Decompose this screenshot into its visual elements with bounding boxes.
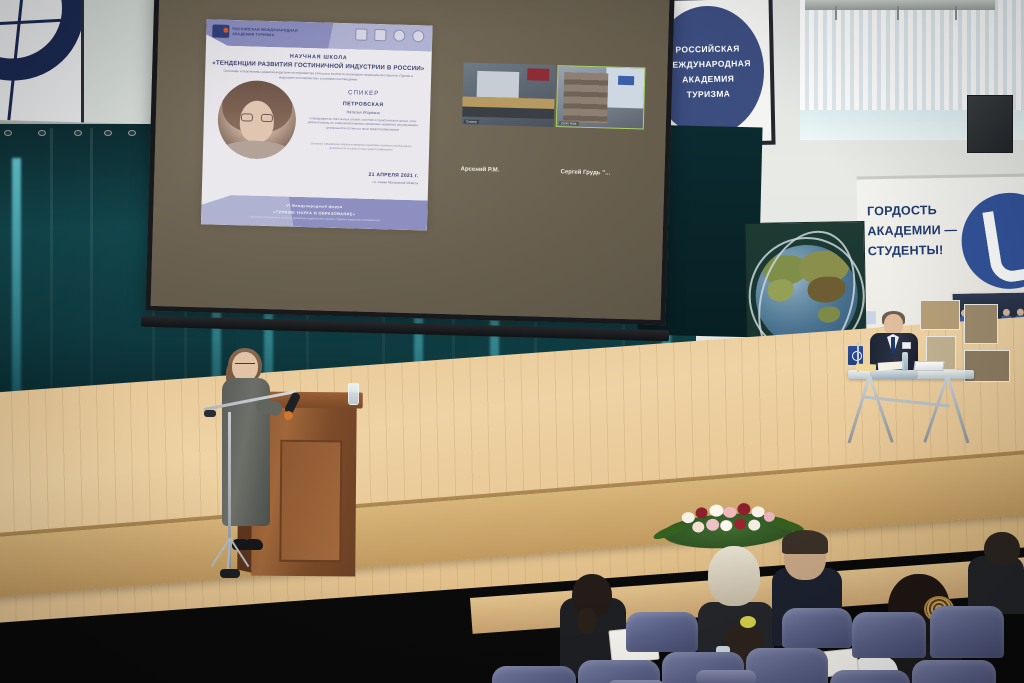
- participant-name-2: Сергей Грудь ˮ...: [560, 169, 610, 176]
- slide-speaker-block: СПИКЕР ПЕТРОВСКАЯ Наталья Игоревна сопре…: [304, 88, 423, 132]
- attendee-blonde-head: [708, 546, 760, 606]
- attendee-masked-girl-tie: [740, 616, 756, 628]
- slide-date-block: 21 АПРЕЛЯ 2021 г. г.о. Химки Московской …: [368, 172, 418, 185]
- presidium-table-area: [842, 312, 1002, 452]
- partner-logos: [355, 28, 424, 42]
- seat[interactable]: [782, 608, 852, 648]
- attendee-far-right-head: [984, 532, 1020, 566]
- microphone-clip: [204, 410, 216, 417]
- speaker-label: СПИКЕР: [305, 88, 423, 98]
- water-bottle: [902, 352, 908, 371]
- seat[interactable]: [930, 606, 1004, 658]
- seat[interactable]: [830, 670, 910, 683]
- tripod-foot: [220, 569, 240, 578]
- video-participant-names: Арсений Р.М. Сергей Грудь ˮ...: [461, 166, 661, 172]
- academy-logo: РОССИЙСКАЯ МЕЖДУНАРОДНАЯ АКАДЕМИЯ ТУРИЗМ…: [212, 24, 298, 39]
- table-papers-yellow: [856, 363, 876, 371]
- video-tile-speaker: Спикер: [462, 62, 556, 127]
- video-tile-1-caption: Спикер: [464, 119, 479, 123]
- slide-location: г.о. Химки Московской области: [368, 180, 418, 185]
- table-leg: [946, 376, 969, 444]
- man-name-badge: [902, 342, 911, 349]
- video-tile-2-caption: Zoom Host: [559, 121, 579, 126]
- slide-footer: VI Международный форум «ТУРИЗМ: НАУКА И …: [201, 194, 428, 230]
- seat[interactable]: [492, 666, 576, 683]
- table-leg: [848, 376, 871, 444]
- seat[interactable]: [912, 660, 996, 683]
- seat[interactable]: [852, 612, 926, 658]
- speaker-name: Наталья Игоревна: [304, 108, 422, 116]
- partner-logo-3-icon: [393, 29, 405, 41]
- partner-logo-2-icon: [374, 29, 386, 41]
- attendee-man-suit-hair: [782, 530, 828, 554]
- ceiling-rail: [805, 0, 995, 10]
- audience-seating: [500, 520, 1024, 683]
- partner-logo-4-icon: [412, 30, 424, 42]
- academy-line-3: АКАДЕМИЯ: [682, 73, 734, 84]
- speaker-portrait: [217, 80, 297, 160]
- academy-mark-icon: [212, 24, 229, 37]
- seat[interactable]: [626, 612, 698, 652]
- screen-surface: РОССИЙСКАЯ МЕЖДУНАРОДНАЯ АКАДЕМИЯ ТУРИЗМ…: [151, 0, 670, 320]
- participant-name-1: Арсений Р.М.: [460, 166, 499, 173]
- projection-screen: РОССИЙСКАЯ МЕЖДУНАРОДНАЯ АКАДЕМИЯ ТУРИЗМ…: [145, 0, 674, 325]
- conference-hall-scene: РОССИЙСКАЯ МЕЖДУНАРОДНАЯ АКАДЕМИЯ ТУРИЗМ…: [0, 0, 1024, 683]
- attendee-dark-ponytail-ponytail: [578, 608, 596, 634]
- presenter-glasses-icon: [235, 363, 255, 368]
- microphone-boom: [204, 390, 297, 411]
- presentation-slide: РОССИЙСКАЯ МЕЖДУНАРОДНАЯ АКАДЕМИЯ ТУРИЗМ…: [201, 19, 433, 230]
- academy-line-1: РОССИЙСКАЯ: [675, 43, 739, 54]
- speaker-description: сопредседатель Лиги малых отелей, хостел…: [304, 116, 422, 133]
- left-globe-banner: [0, 0, 84, 124]
- academy-line-4: ТУРИЗМА: [687, 88, 731, 99]
- slide-date: 21 АПРЕЛЯ 2021 г.: [368, 172, 418, 179]
- microphone-windscreen: [284, 411, 293, 420]
- slide-note: Основные направления совершенствования н…: [303, 142, 419, 153]
- seat-armrest: [696, 670, 756, 683]
- partner-logo-1-icon: [355, 28, 367, 40]
- academy-line-2: МЕЖДУНАРОДНАЯ: [665, 58, 751, 70]
- microphone-stand: [196, 378, 316, 578]
- man-tie: [891, 337, 895, 353]
- table-leg: [923, 376, 949, 443]
- screen-frame: РОССИЙСКАЯ МЕЖДУНАРОДНАЯ АКАДЕМИЯ ТУРИЗМ…: [145, 0, 674, 325]
- name-plate: [913, 361, 944, 371]
- video-call-tiles: Спикер Zoom Host: [462, 62, 646, 129]
- video-tile-host: Zoom Host: [556, 65, 646, 129]
- seat[interactable]: [746, 648, 828, 683]
- water-glass: [348, 383, 359, 405]
- table-leg: [868, 376, 894, 443]
